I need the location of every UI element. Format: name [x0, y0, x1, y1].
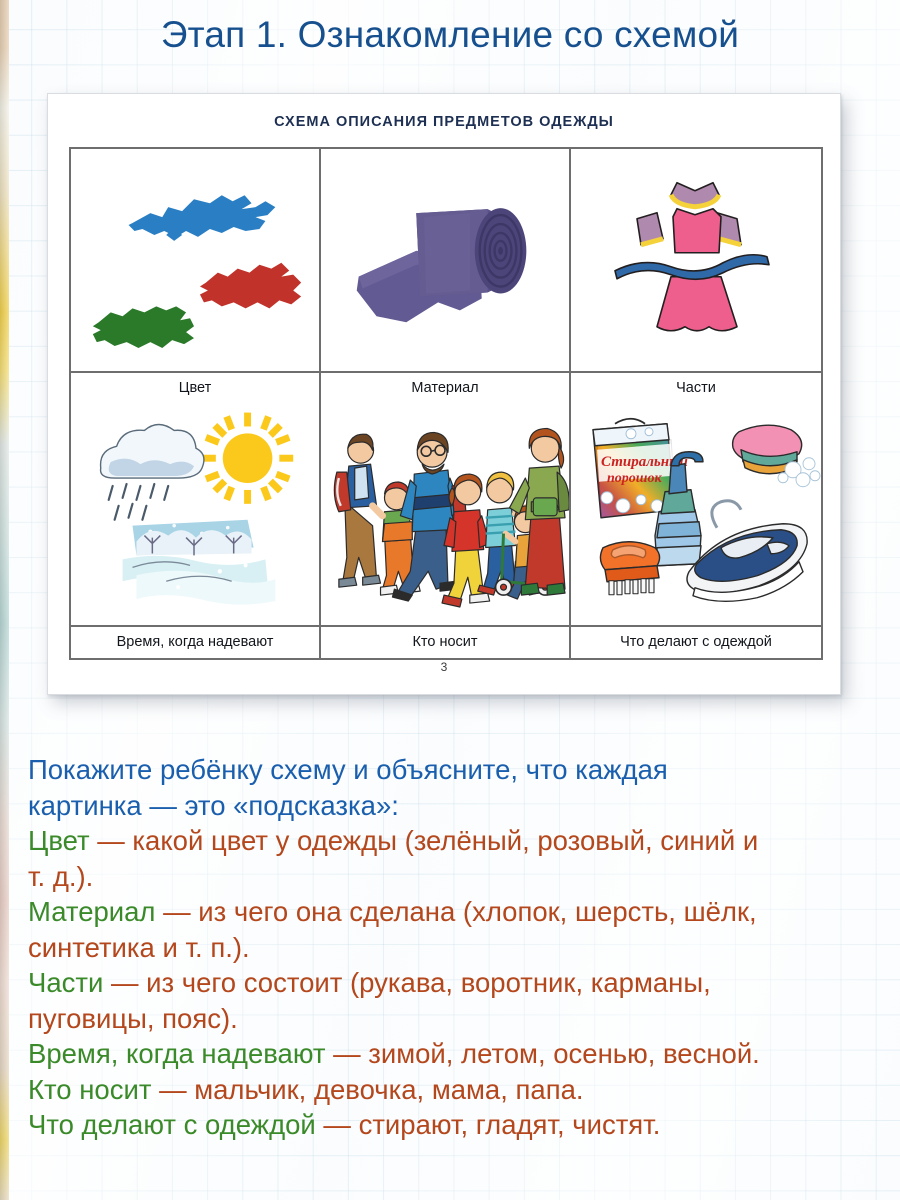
entry-dash: — [155, 896, 198, 927]
scheme-cell-material[interactable]: Материал [321, 149, 571, 404]
entry-dash: — [103, 967, 146, 998]
dress-parts-illustration [571, 149, 821, 371]
entry-parts-cont: пуговицы, пояс). [28, 1001, 888, 1037]
paint-splats-illustration [71, 149, 319, 371]
scheme-cell-label: Цвет [71, 371, 319, 404]
laundry-items-illustration: Стиральный порошок [571, 404, 821, 626]
entry-wearer: Кто носит — мальчик, девочка, мама, папа… [28, 1072, 888, 1108]
fabric-roll-illustration [321, 149, 569, 371]
weather-seasons-illustration [71, 404, 319, 626]
entry-term: Время, когда надевают [28, 1038, 325, 1069]
scheme-cell-season[interactable]: Время, когда надевают [71, 404, 321, 659]
family-group-illustration [321, 404, 569, 626]
entry-dash: — [90, 825, 133, 856]
scheme-cell-label: Части [571, 371, 821, 404]
entry-desc: из чего состоит (рукава, воротник, карма… [146, 967, 711, 998]
entry-desc: мальчик, девочка, мама, папа. [194, 1074, 583, 1105]
entry-desc: из чего она сделана (хлопок, шерсть, шёл… [198, 896, 756, 927]
entry-dash: — [325, 1038, 368, 1069]
scheme-heading: СХЕМА ОПИСАНИЯ ПРЕДМЕТОВ ОДЕЖДЫ [48, 114, 840, 130]
entry-care: Что делают с одеждой — стирают, гладят, … [28, 1107, 888, 1143]
entry-term: Части [28, 967, 103, 998]
entry-desc: какой цвет у одежды (зелёный, розовый, с… [132, 825, 758, 856]
entry-term: Цвет [28, 825, 90, 856]
scheme-cell-color[interactable]: Цвет [71, 149, 321, 404]
entry-color-cont: т. д.). [28, 859, 888, 895]
scheme-cell-label: Материал [321, 371, 569, 404]
scheme-card: СХЕМА ОПИСАНИЯ ПРЕДМЕТОВ ОДЕЖДЫ Цвет [47, 93, 841, 695]
entry-term: Материал [28, 896, 155, 927]
entry-material-cont: синтетика и т. п.). [28, 930, 888, 966]
entry-desc: стирают, гладят, чистят. [359, 1109, 661, 1140]
entry-dash: — [151, 1074, 194, 1105]
entry-dash: — [316, 1109, 359, 1140]
scheme-cell-wearer[interactable]: Кто носит [321, 404, 571, 659]
detergent-label-line2: порошок [607, 470, 662, 485]
edge-strip-highlight [0, 0, 9, 1200]
entry-color: Цвет — какой цвет у одежды (зелёный, роз… [28, 823, 888, 859]
page-title: Этап 1. Ознакомление со схемой [0, 14, 900, 56]
intro-line-1: Покажите ребёнку схему и объясните, что … [28, 752, 888, 788]
scheme-cell-label: Время, когда надевают [71, 625, 319, 658]
scheme-cell-parts[interactable]: Части [571, 149, 821, 404]
entry-term: Кто носит [28, 1074, 151, 1105]
scheme-cell-care[interactable]: Стиральный порошок [571, 404, 821, 659]
scheme-cell-label: Что делают с одеждой [571, 625, 821, 658]
scheme-page-number: 3 [48, 660, 840, 674]
entry-season: Время, когда надевают — зимой, летом, ос… [28, 1036, 888, 1072]
scheme-grid: Цвет [69, 147, 823, 660]
left-edge-binding-strip [0, 0, 9, 1200]
entry-parts: Части — из чего состоит (рукава, воротни… [28, 965, 888, 1001]
intro-line-2: картинка — это «подсказка»: [28, 788, 888, 824]
scheme-cell-label: Кто носит [321, 625, 569, 658]
entry-term: Что делают с одеждой [28, 1109, 316, 1140]
entry-material: Материал — из чего она сделана (хлопок, … [28, 894, 888, 930]
entry-desc: зимой, летом, осенью, весной. [368, 1038, 760, 1069]
instruction-text: Покажите ребёнку схему и объясните, что … [28, 752, 888, 1143]
